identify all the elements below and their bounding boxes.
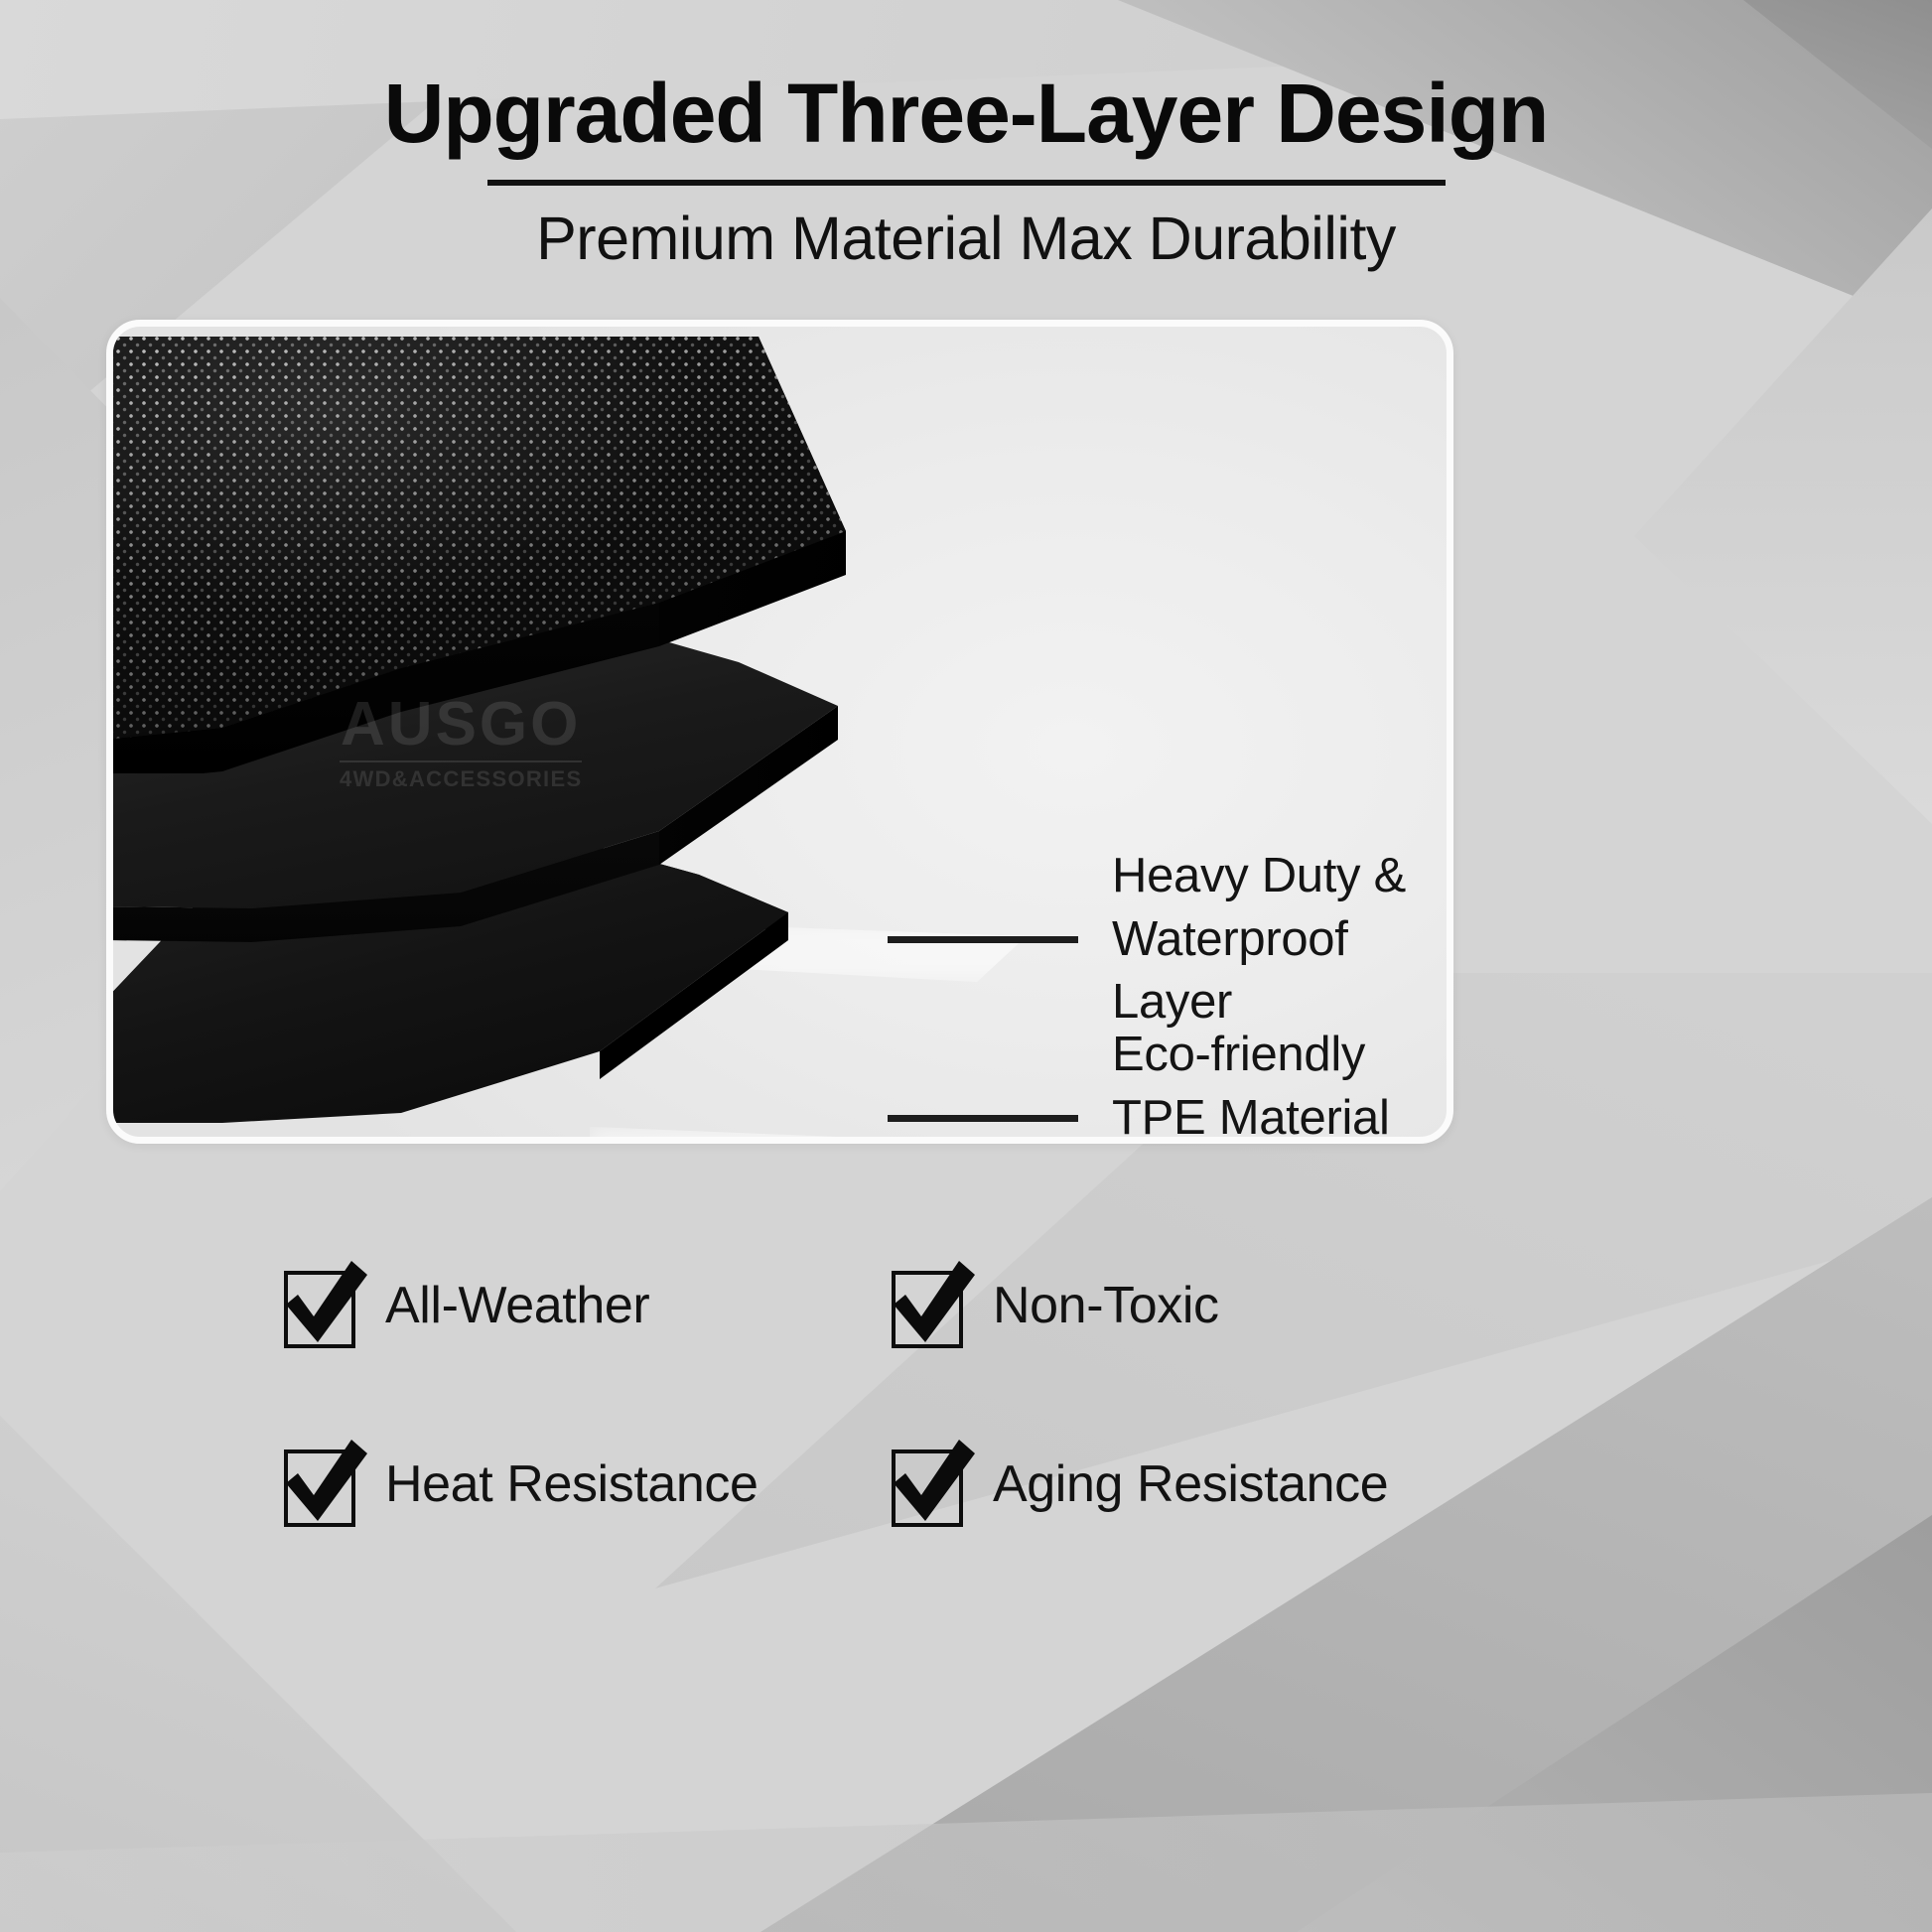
check-mark-icon-2 [884, 1253, 983, 1352]
bg-facet-right-middle [1634, 208, 1932, 824]
check-mark-icon-3 [276, 1432, 375, 1531]
layer-diagram-panel: AUSGO 4WD&ACCESSORIES Heavy Duty & Water… [106, 320, 1453, 1144]
feature-item-all-weather: All-Weather [280, 1259, 888, 1352]
callout-label-1: Heavy Duty & Waterproof Layer [1112, 845, 1447, 1035]
checkbox-checked-icon-heat-resistance [280, 1442, 365, 1527]
feature-checklist: All-Weather Non-Toxic Heat Resistance Ag… [280, 1259, 1690, 1531]
feature-item-aging-resistance: Aging Resistance [888, 1438, 1495, 1531]
title-divider [487, 180, 1446, 186]
checkbox-checked-icon-all-weather [280, 1263, 365, 1348]
feature-label-non-toxic: Non-Toxic [993, 1276, 1219, 1335]
page-subtitle: Premium Material Max Durability [0, 204, 1932, 273]
leader-line-2 [888, 1115, 1078, 1122]
check-mark-icon-4 [884, 1432, 983, 1531]
callout-eco-friendly-tpe-material-layer: Eco-friendly TPE Material Layer [888, 1024, 1447, 1144]
page-title: Upgraded Three-Layer Design [0, 69, 1932, 158]
check-mark-icon-1 [276, 1253, 375, 1352]
checkbox-checked-icon-non-toxic [888, 1263, 973, 1348]
feature-item-non-toxic: Non-Toxic [888, 1259, 1495, 1352]
checkbox-checked-icon-aging-resistance [888, 1442, 973, 1527]
feature-label-heat-resistance: Heat Resistance [385, 1454, 759, 1514]
callout-heavy-duty-waterproof-layer: Heavy Duty & Waterproof Layer [888, 845, 1447, 1035]
callout-label-2: Eco-friendly TPE Material Layer [1112, 1024, 1447, 1144]
feature-label-aging-resistance: Aging Resistance [993, 1454, 1388, 1514]
feature-label-all-weather: All-Weather [385, 1276, 649, 1335]
leader-line-1 [888, 936, 1078, 943]
header: Upgraded Three-Layer Design Premium Mate… [0, 69, 1932, 273]
feature-item-heat-resistance: Heat Resistance [280, 1438, 888, 1531]
